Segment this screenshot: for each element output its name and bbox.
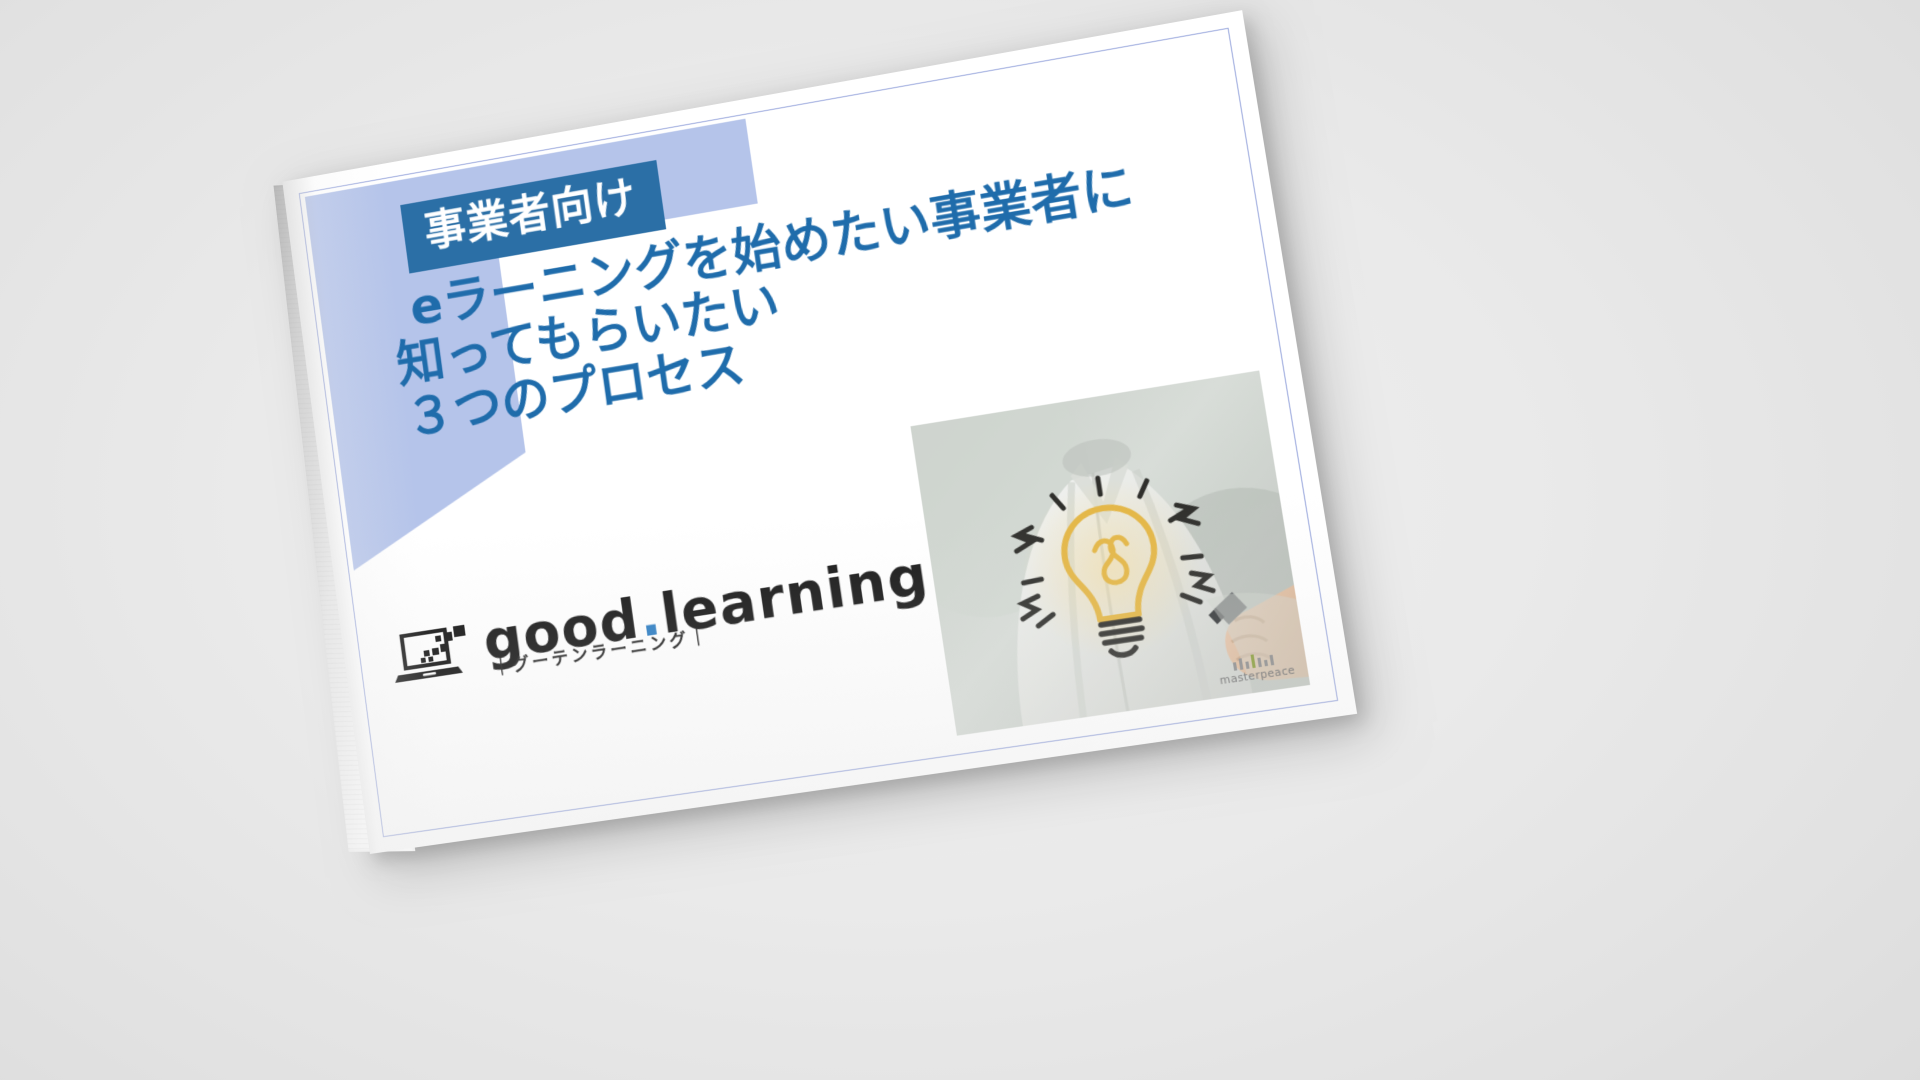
slide-document[interactable]: 事業者向け eラーニングを始めたい事業者に 知ってもらいたい ３つのプロセス [282, 10, 1357, 854]
slide-page[interactable]: 事業者向け eラーニングを始めたい事業者に 知ってもらいたい ３つのプロセス [282, 10, 1357, 854]
masterpeace-bars-icon [1230, 650, 1280, 671]
cover-photo-image [910, 370, 1310, 735]
slide-scene: 事業者向け eラーニングを始めたい事業者に 知ってもらいたい ３つのプロセス [0, 0, 1920, 1080]
cover-photo: masterpeace [910, 370, 1310, 735]
laptop-pixels-icon [389, 619, 484, 696]
masterpeace-watermark-label: masterpeace [1219, 664, 1296, 687]
masterpeace-watermark: masterpeace [1216, 648, 1296, 688]
